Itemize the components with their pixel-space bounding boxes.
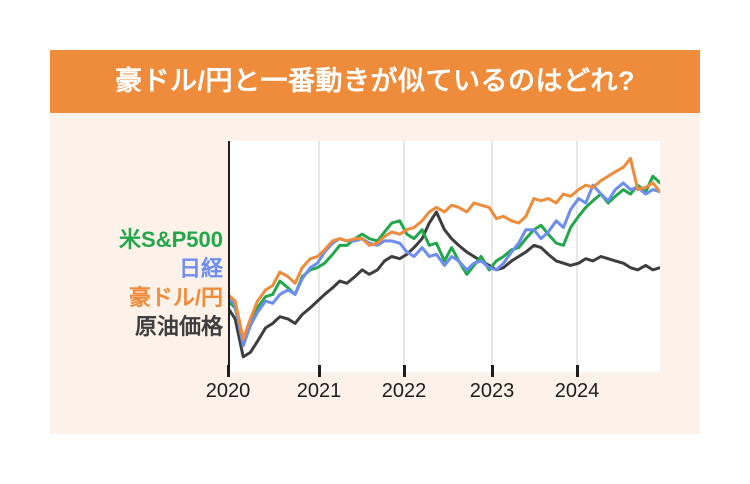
x-axis-tick bbox=[576, 365, 579, 377]
title-bar: 豪ドル/円と一番動きが似ているのはどれ? bbox=[50, 50, 700, 113]
x-axis-label-2022: 2022 bbox=[382, 379, 427, 403]
x-axis-tick bbox=[318, 365, 321, 377]
x-axis: 20202021202220232024 bbox=[228, 377, 660, 403]
x-axis-label-2020: 2020 bbox=[206, 379, 251, 403]
legend-item-nikkei: 日経 bbox=[60, 254, 223, 283]
infographic-canvas: 豪ドル/円と一番動きが似ているのはどれ? 米S&P500 日経 豪ドル/円 原油… bbox=[0, 0, 750, 484]
series-line-oil bbox=[228, 212, 660, 357]
x-axis-tick bbox=[491, 365, 494, 377]
x-axis-label-2023: 2023 bbox=[470, 379, 515, 403]
series-line-audjpy bbox=[228, 158, 660, 339]
line-chart-svg bbox=[228, 141, 660, 372]
chart-legend: 米S&P500 日経 豪ドル/円 原油価格 bbox=[60, 225, 223, 341]
legend-item-oil: 原油価格 bbox=[60, 312, 223, 341]
x-axis-tick bbox=[227, 365, 230, 377]
legend-item-audjpy: 豪ドル/円 bbox=[60, 283, 223, 312]
x-axis-tick bbox=[403, 365, 406, 377]
legend-item-sp500: 米S&P500 bbox=[60, 225, 223, 254]
chart-plot-area bbox=[228, 141, 660, 372]
x-axis-label-2024: 2024 bbox=[555, 379, 600, 403]
page-title: 豪ドル/円と一番動きが似ているのはどれ? bbox=[115, 68, 635, 95]
x-axis-label-2021: 2021 bbox=[297, 379, 342, 403]
